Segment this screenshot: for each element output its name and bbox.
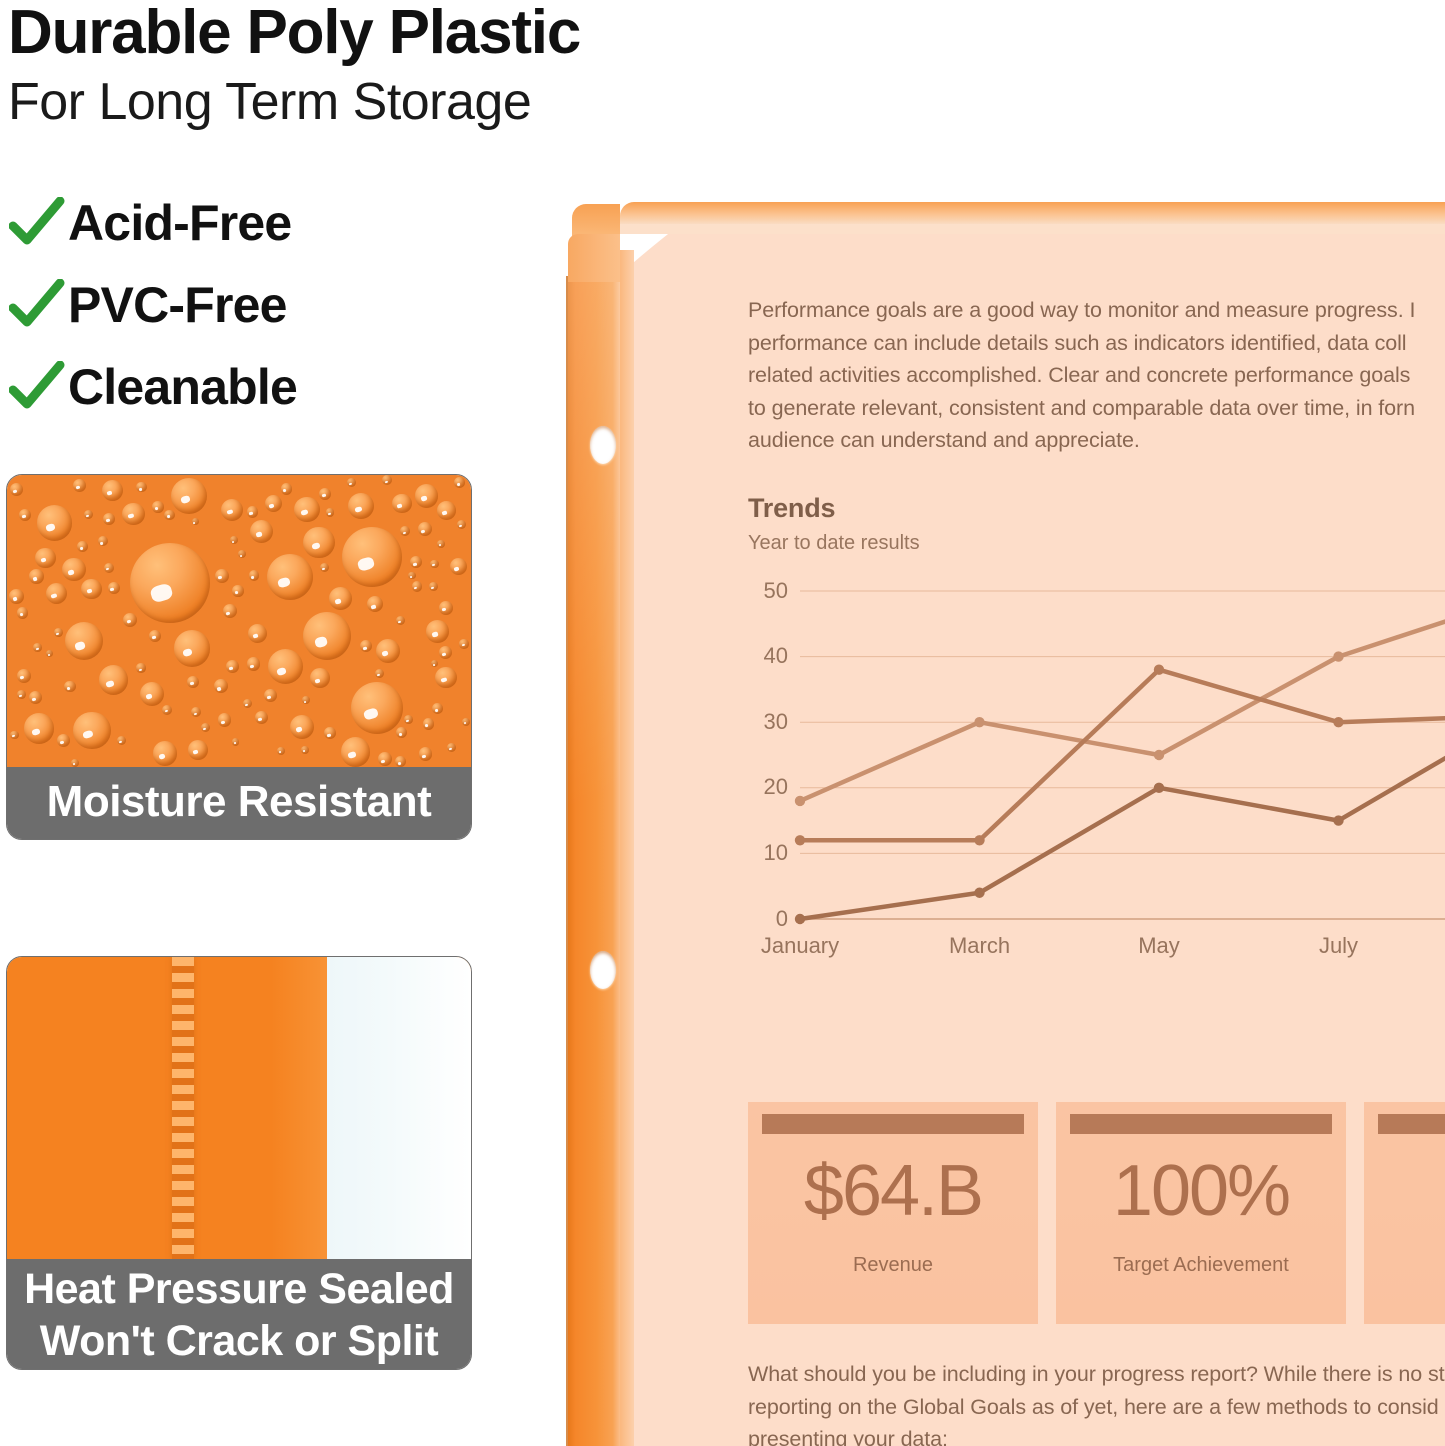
water-droplet xyxy=(64,681,75,692)
trends-section-header: Trends Year to date results xyxy=(748,493,1445,555)
water-droplet xyxy=(33,643,42,652)
section-title: Trends xyxy=(748,493,1445,524)
water-droplet xyxy=(221,499,243,521)
card-value: 3,5 xyxy=(1364,1150,1445,1232)
water-droplet xyxy=(303,527,335,559)
water-droplet xyxy=(104,563,114,573)
water-droplet xyxy=(10,731,19,740)
seal-gradient xyxy=(271,957,327,1259)
sleeve-top-rail-inner xyxy=(620,224,1445,234)
chart-x-tick-label: May xyxy=(1138,933,1180,959)
chart-y-tick-label: 50 xyxy=(748,578,788,604)
water-droplet xyxy=(396,616,405,625)
chart-x-tick-label: January xyxy=(761,933,839,959)
water-droplet xyxy=(73,712,110,749)
water-droplet xyxy=(226,660,239,673)
page-title: Durable Poly Plastic xyxy=(8,2,580,64)
water-droplet xyxy=(71,759,79,767)
chart-y-tick-label: 10 xyxy=(748,840,788,866)
paragraph-line: performance can include details such as … xyxy=(748,327,1445,360)
water-droplet xyxy=(437,540,445,548)
paragraph-line: Performance goals are a good way to moni… xyxy=(748,294,1445,327)
feature-label: Cleanable xyxy=(68,362,297,412)
water-droplet xyxy=(326,508,334,516)
water-droplet xyxy=(319,488,331,500)
chart-data-point xyxy=(1154,749,1164,759)
water-droplet xyxy=(17,690,26,699)
chart-data-point xyxy=(1333,651,1343,661)
water-droplet xyxy=(290,715,314,739)
water-droplet xyxy=(426,620,449,643)
water-droplet xyxy=(267,554,313,600)
water-droplet xyxy=(35,548,55,568)
card-value: 100% xyxy=(1056,1150,1346,1232)
photo-caption: Heat Pressure Sealed Won't Crack or Spli… xyxy=(7,1259,471,1369)
water-droplet xyxy=(439,601,453,615)
chart-y-tick-label: 0 xyxy=(748,906,788,932)
sleeve-binding-strip xyxy=(568,276,620,1446)
water-droplet xyxy=(462,718,470,726)
chart-y-tick-label: 30 xyxy=(748,709,788,735)
seal-white-panel xyxy=(327,957,471,1259)
document-page: Performance goals are a good way to moni… xyxy=(634,234,1445,1446)
water-droplet xyxy=(243,699,252,708)
water-droplet xyxy=(140,682,164,706)
water-droplet xyxy=(201,723,210,732)
water-droplet xyxy=(247,657,261,671)
water-droplet xyxy=(136,663,145,672)
feature-item-pvc-free: PVC-Free xyxy=(6,264,526,346)
water-droplet xyxy=(188,740,208,760)
water-droplet xyxy=(81,579,101,599)
chart-data-point xyxy=(974,835,984,845)
water-droplet xyxy=(367,596,383,612)
water-droplet xyxy=(395,756,406,767)
water-droplet xyxy=(117,736,126,745)
sleeve-strip-highlight xyxy=(620,250,634,1446)
check-icon xyxy=(6,361,68,413)
water-droplet xyxy=(37,505,73,541)
water-droplet xyxy=(10,483,23,496)
chart-data-point xyxy=(795,835,805,845)
photo-caption-line2: Won't Crack or Split xyxy=(7,1315,471,1367)
droplets xyxy=(7,475,471,767)
paragraph-line: presenting your data: xyxy=(748,1423,1445,1446)
water-droplet xyxy=(98,536,108,546)
water-droplet xyxy=(450,558,467,575)
water-droplet xyxy=(301,746,309,754)
binder-hole xyxy=(590,951,616,989)
product-photo-heat-pressure-sealed: Heat Pressure Sealed Won't Crack or Spli… xyxy=(6,956,472,1370)
chart-line-series xyxy=(800,597,1445,800)
water-droplet xyxy=(29,691,42,704)
water-droplet xyxy=(46,650,53,657)
water-droplet xyxy=(29,569,44,584)
water-droplet xyxy=(303,612,351,660)
card-label: Revenue xyxy=(748,1254,1038,1277)
water-droplet xyxy=(342,527,402,587)
water-droplet xyxy=(232,585,243,596)
photo-caption-line1: Heat Pressure Sealed xyxy=(7,1263,471,1315)
water-droplet xyxy=(248,624,267,643)
water-droplet xyxy=(281,483,292,494)
water-droplet xyxy=(396,727,407,738)
water-droplet xyxy=(264,689,277,702)
water-droplet xyxy=(347,478,357,488)
seal-weld-seam xyxy=(172,957,194,1259)
water-droplet xyxy=(265,495,282,512)
water-droplet xyxy=(247,506,259,518)
water-droplet xyxy=(412,581,422,591)
card-label: First Tim xyxy=(1364,1254,1445,1277)
water-droplet xyxy=(152,501,164,513)
water-droplet xyxy=(329,587,352,610)
water-droplet xyxy=(419,747,433,761)
water-droplet xyxy=(324,727,336,739)
card-label: Target Achievement xyxy=(1056,1254,1346,1277)
water-droplet xyxy=(62,558,85,581)
water-droplet xyxy=(435,667,457,689)
water-droplet xyxy=(191,707,201,717)
water-droplet xyxy=(430,560,438,568)
stat-card-row: $64.B Revenue 100% Target Achievement 3,… xyxy=(748,1102,1445,1324)
stat-card: 3,5 First Tim xyxy=(1364,1102,1445,1324)
chart-x-tick-label: March xyxy=(949,933,1010,959)
water-droplet xyxy=(17,669,31,683)
card-value: $64.B xyxy=(748,1150,1038,1232)
stat-card: 100% Target Achievement xyxy=(1056,1102,1346,1324)
water-droplet xyxy=(54,628,63,637)
water-droplet xyxy=(19,509,31,521)
water-droplet xyxy=(277,747,285,755)
water-droplet xyxy=(408,572,415,579)
document-paragraph-2: What should you be including in your pro… xyxy=(748,1358,1445,1446)
water-droplet xyxy=(249,570,260,581)
water-droplet xyxy=(218,713,231,726)
water-droplet xyxy=(223,604,237,618)
sleeve-top-rail xyxy=(620,202,1445,224)
product-listing-image: Durable Poly Plastic For Long Term Stora… xyxy=(0,0,1445,1446)
check-icon xyxy=(6,279,68,331)
water-droplet xyxy=(415,484,439,508)
water-droplet xyxy=(392,494,412,514)
water-droplet xyxy=(320,563,329,572)
water-droplet xyxy=(73,479,86,492)
water-droplet xyxy=(437,501,456,520)
water-droplet xyxy=(375,669,384,678)
water-droplet xyxy=(418,522,432,536)
water-droplet xyxy=(376,639,400,663)
feature-label: Acid-Free xyxy=(68,198,291,248)
water-droplet xyxy=(378,752,392,766)
water-droplet xyxy=(457,520,466,529)
chart-canvas xyxy=(748,577,1445,967)
feature-list: Acid-Free PVC-Free Cleanable xyxy=(6,182,526,428)
water-droplet xyxy=(102,480,123,501)
document-paragraph-1: Performance goals are a good way to moni… xyxy=(748,294,1445,457)
stat-card: $64.B Revenue xyxy=(748,1102,1038,1324)
card-accent-bar xyxy=(1378,1114,1445,1134)
water-droplet xyxy=(174,630,210,666)
water-droplet xyxy=(454,477,465,488)
water-droplet xyxy=(57,734,71,748)
paragraph-line: reporting on the Global Goals as of yet,… xyxy=(748,1391,1445,1424)
chart-y-tick-label: 20 xyxy=(748,774,788,800)
water-droplet xyxy=(84,510,93,519)
sheet-protector: Performance goals are a good way to moni… xyxy=(560,190,1445,1446)
water-droplet xyxy=(122,503,144,525)
binder-hole xyxy=(590,426,616,464)
paragraph-line: What should you be including in your pro… xyxy=(748,1358,1445,1391)
chart-data-point xyxy=(974,717,984,727)
water-droplet xyxy=(17,607,28,618)
water-droplet xyxy=(404,715,413,724)
photo-caption: Moisture Resistant xyxy=(7,767,471,839)
water-droplet xyxy=(351,682,403,734)
water-droplet xyxy=(447,743,456,752)
check-icon xyxy=(6,197,68,249)
water-droplet-texture xyxy=(7,475,471,767)
document-content: Performance goals are a good way to moni… xyxy=(748,294,1445,1446)
water-droplet xyxy=(77,541,88,552)
water-droplet xyxy=(153,741,177,765)
seal-closeup xyxy=(7,957,471,1259)
water-droplet xyxy=(360,640,372,652)
water-droplet xyxy=(46,583,67,604)
water-droplet xyxy=(382,475,392,485)
water-droplet xyxy=(400,526,410,536)
water-droplet xyxy=(103,513,115,525)
chart-data-point xyxy=(974,887,984,897)
card-accent-bar xyxy=(1070,1114,1332,1134)
chart-data-point xyxy=(795,913,805,923)
water-droplet xyxy=(294,497,320,523)
section-subtitle: Year to date results xyxy=(748,532,1445,555)
product-photo-moisture-resistant: Moisture Resistant xyxy=(6,474,472,840)
chart-data-point xyxy=(795,795,805,805)
water-droplet xyxy=(162,705,172,715)
water-droplet xyxy=(136,482,147,493)
paragraph-line: related activities accomplished. Clear a… xyxy=(748,359,1445,392)
water-droplet xyxy=(215,569,229,583)
water-droplet xyxy=(171,478,207,514)
water-droplet xyxy=(108,582,120,594)
chart-x-tick-label: July xyxy=(1319,933,1358,959)
water-droplet xyxy=(214,679,229,694)
water-droplet xyxy=(192,518,199,525)
water-droplet xyxy=(123,613,137,627)
water-droplet xyxy=(459,639,468,648)
page-subtitle: For Long Term Storage xyxy=(8,76,531,128)
water-droplet xyxy=(268,649,303,684)
water-droplet xyxy=(429,582,438,591)
water-droplet xyxy=(423,718,435,730)
chart-data-point xyxy=(1333,717,1343,727)
water-droplet xyxy=(238,550,246,558)
water-droplet xyxy=(302,696,310,704)
water-droplet xyxy=(250,520,273,543)
chart-data-point xyxy=(1333,815,1343,825)
paragraph-line: to generate relevant, consistent and com… xyxy=(748,392,1445,425)
water-droplet xyxy=(149,630,161,642)
trends-line-chart: 01020304050JanuaryMarchMayJulySeptember xyxy=(748,577,1445,967)
sleeve-notch xyxy=(568,234,620,282)
feature-label: PVC-Free xyxy=(68,280,287,330)
water-droplet xyxy=(187,676,199,688)
water-droplet xyxy=(130,543,210,623)
feature-item-cleanable: Cleanable xyxy=(6,346,526,428)
chart-data-point xyxy=(1154,782,1164,792)
water-droplet xyxy=(341,737,371,767)
water-droplet xyxy=(9,589,24,604)
water-droplet xyxy=(24,713,55,744)
water-droplet xyxy=(310,668,330,688)
card-accent-bar xyxy=(762,1114,1024,1134)
water-droplet xyxy=(164,510,175,521)
sleeve-notch-stub xyxy=(572,204,620,236)
water-droplet xyxy=(431,660,438,667)
water-droplet xyxy=(99,665,129,695)
water-droplet xyxy=(432,703,443,714)
chart-y-tick-label: 40 xyxy=(748,643,788,669)
paragraph-line: audience can understand and appreciate. xyxy=(748,424,1445,457)
water-droplet xyxy=(65,622,103,660)
water-droplet xyxy=(439,646,452,659)
water-droplet xyxy=(410,556,422,568)
chart-data-point xyxy=(1154,664,1164,674)
feature-item-acid-free: Acid-Free xyxy=(6,182,526,264)
water-droplet xyxy=(230,536,238,544)
water-droplet xyxy=(348,493,374,519)
water-droplet xyxy=(255,711,268,724)
water-droplet xyxy=(232,738,239,745)
